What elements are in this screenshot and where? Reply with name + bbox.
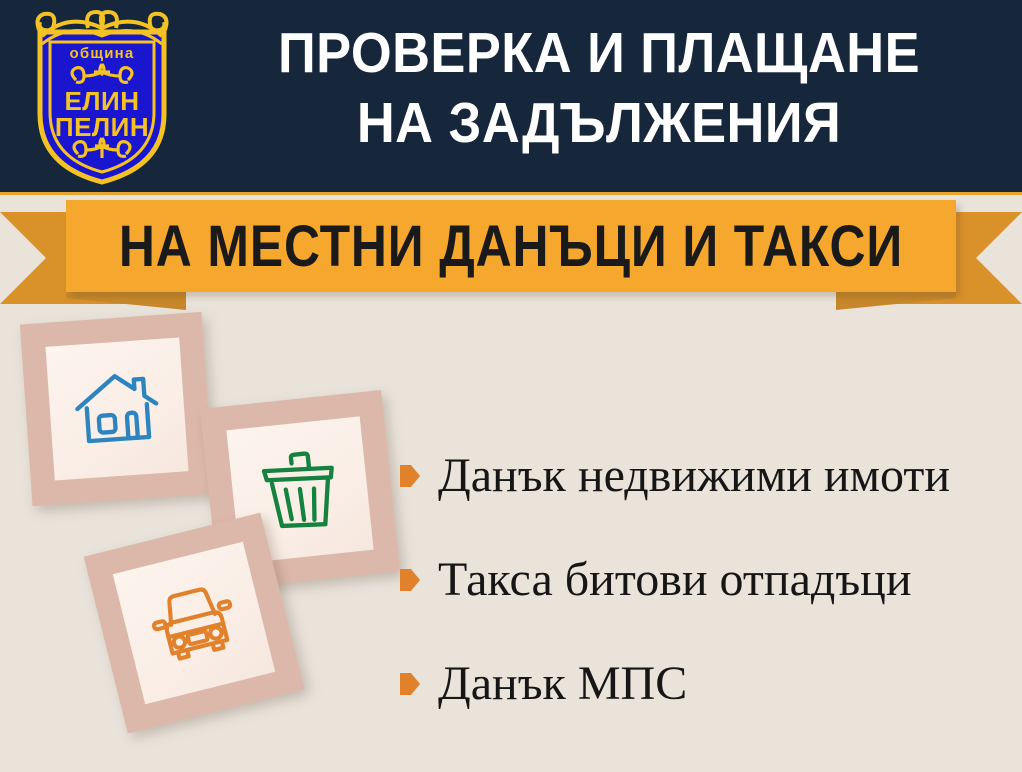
- services-list: Данък недвижими имоти Такса битови отпад…: [400, 424, 1010, 736]
- list-item-label: Данък МПС: [438, 658, 687, 710]
- crest-line-top: община: [70, 45, 135, 62]
- list-item[interactable]: Данък недвижими имоти: [400, 424, 1010, 528]
- list-item[interactable]: Такса битови отпадъци: [400, 528, 1010, 632]
- header-gold-rule: [0, 192, 1022, 195]
- property-stamp: [20, 312, 214, 506]
- crest-line-bottom: ПЕЛИН: [55, 112, 149, 142]
- poster-canvas: община ЕЛИН ПЕЛИН ПРОВЕРКА И ПЛАЩАНЕ НА …: [0, 0, 1022, 772]
- stamp-paper: [45, 337, 188, 480]
- title-line-2: НА ЗАДЪЛЖЕНИЯ: [223, 88, 976, 158]
- title-line-1: ПРОВЕРКА И ПЛАЩАНЕ: [223, 18, 976, 88]
- list-item[interactable]: Данък МПС: [400, 632, 1010, 736]
- list-item-label: Такса битови отпадъци: [438, 554, 912, 606]
- subtitle-ribbon: НА МЕСТНИ ДАНЪЦИ И ТАКСИ: [0, 196, 1022, 312]
- arrow-bullet-icon: [400, 465, 420, 487]
- arrow-bullet-icon: [400, 673, 420, 695]
- house-icon: [67, 359, 167, 459]
- car-icon: [137, 566, 251, 680]
- page-title: ПРОВЕРКА И ПЛАЩАНЕ НА ЗАДЪЛЖЕНИЯ: [190, 18, 1008, 158]
- municipality-logo: община ЕЛИН ПЕЛИН: [18, 6, 186, 188]
- ribbon-band: НА МЕСТНИ ДАНЪЦИ И ТАКСИ: [66, 200, 956, 292]
- arrow-bullet-icon: [400, 569, 420, 591]
- list-item-label: Данък недвижими имоти: [438, 450, 950, 502]
- ribbon-label: НА МЕСТНИ ДАНЪЦИ И ТАКСИ: [128, 200, 893, 292]
